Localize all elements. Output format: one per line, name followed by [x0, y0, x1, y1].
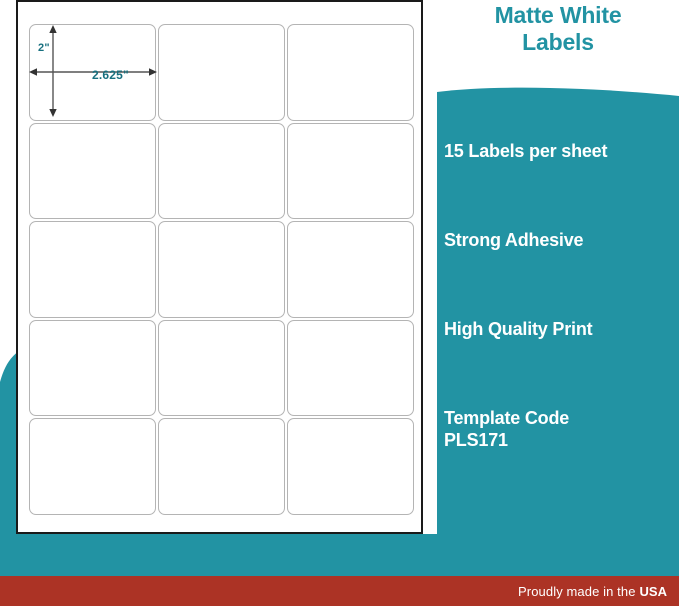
label-grid [29, 24, 414, 515]
feature-panel: Matte White Labels 15 Labels per sheet S… [437, 0, 679, 576]
product-title-line-2: Labels [522, 29, 594, 55]
feature-text: 15 Labels per sheet [444, 141, 607, 161]
label-cell [287, 320, 414, 417]
product-title-line-1: Matte White [495, 2, 622, 28]
label-cell [287, 123, 414, 220]
feature-labels-per-sheet: 15 Labels per sheet [444, 140, 679, 162]
feature-high-quality-print: High Quality Print [444, 318, 679, 340]
label-cell [29, 320, 156, 417]
feature-text: Strong Adhesive [444, 230, 583, 250]
label-cell [287, 221, 414, 318]
label-cell [158, 418, 285, 515]
label-cell [158, 221, 285, 318]
label-cell [287, 418, 414, 515]
feature-text: High Quality Print [444, 319, 592, 339]
label-cell [29, 418, 156, 515]
label-cell [158, 24, 285, 121]
label-cell [29, 221, 156, 318]
banner-text: Proudly made in the [518, 584, 636, 599]
feature-strong-adhesive: Strong Adhesive [444, 229, 679, 251]
label-width-dimension: 2.625" [92, 68, 129, 82]
feature-template-code: Template Code PLS171 [444, 407, 679, 451]
feature-text: Template Code [444, 408, 569, 428]
template-code-value: PLS171 [444, 429, 679, 451]
label-sheet: 2" 2.625" [16, 0, 423, 534]
product-title: Matte White Labels [437, 2, 679, 56]
label-cell [29, 123, 156, 220]
label-cell [158, 320, 285, 417]
product-image-canvas: 2" 2.625" Matte White Labels 15 Labels p… [0, 0, 679, 606]
label-height-dimension: 2" [38, 42, 50, 54]
made-in-usa-banner: Proudly made in the USA [0, 576, 679, 606]
label-cell [158, 123, 285, 220]
banner-usa-text: USA [640, 584, 667, 599]
label-cell [287, 24, 414, 121]
feature-list: 15 Labels per sheet Strong Adhesive High… [444, 140, 679, 451]
